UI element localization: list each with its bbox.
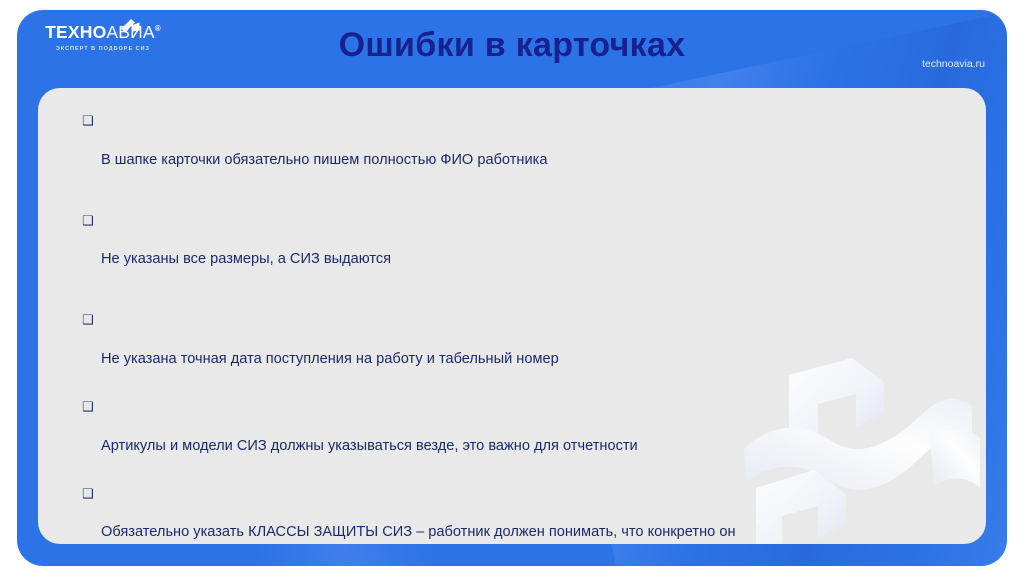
list-item-text: Не указаны все размеры, а СИЗ выдаются	[101, 250, 964, 269]
bullet-marker-icon: ❑	[82, 112, 94, 129]
slide-header: ТЕХНОАВИА® ЭКСПЕРТ В ПОДБОРЕ СИЗ Ошибки …	[17, 10, 1007, 88]
bullet-marker-icon: ❑	[82, 398, 94, 415]
content-card: ❑ В шапке карточки обязательно пишем пол…	[38, 88, 986, 544]
list-item: ❑ Артикулы и модели СИЗ должны указывать…	[82, 398, 964, 476]
page-title: Ошибки в карточках	[17, 26, 1007, 65]
list-item-text: В шапке карточки обязательно пишем полно…	[101, 151, 964, 170]
site-url[interactable]: technoavia.ru	[922, 58, 985, 70]
list-item: ❑ Не указаны все размеры, а СИЗ выдаются	[82, 212, 964, 290]
bullet-marker-icon: ❑	[82, 311, 94, 328]
errors-bullet-list: ❑ В шапке карточки обязательно пишем пол…	[38, 88, 986, 544]
list-item-text: Артикулы и модели СИЗ должны указываться…	[101, 437, 964, 456]
list-item-text: Не указана точная дата поступления на ра…	[101, 350, 964, 369]
list-item: ❑ В шапке карточки обязательно пишем пол…	[82, 112, 964, 190]
list-item-text: Обязательно указать КЛАССЫ ЗАЩИТЫ СИЗ – …	[101, 523, 964, 544]
bullet-marker-icon: ❑	[82, 212, 94, 229]
list-item: ❑ Не указана точная дата поступления на …	[82, 311, 964, 389]
list-item: ❑ Обязательно указать КЛАССЫ ЗАЩИТЫ СИЗ …	[82, 485, 964, 545]
bullet-marker-icon: ❑	[82, 485, 94, 502]
slide-panel: ТЕХНОАВИА® ЭКСПЕРТ В ПОДБОРЕ СИЗ Ошибки …	[17, 10, 1007, 566]
slide-stage: ТЕХНОАВИА® ЭКСПЕРТ В ПОДБОРЕ СИЗ Ошибки …	[0, 0, 1024, 574]
